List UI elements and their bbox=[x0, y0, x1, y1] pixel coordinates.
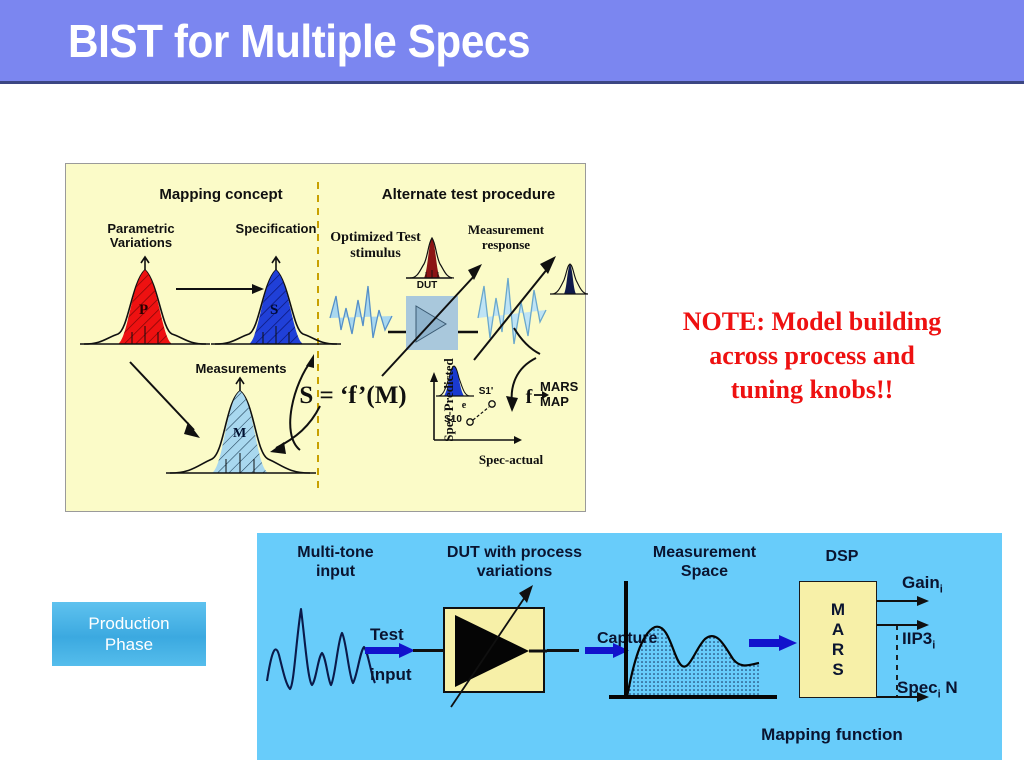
label-input: input bbox=[370, 665, 412, 685]
heading-mapping-function: Mapping function bbox=[727, 725, 937, 744]
slide-title-bar: BIST for Multiple Specs bbox=[0, 0, 1024, 84]
spec-distribution-small bbox=[548, 260, 590, 302]
svg-text:M: M bbox=[233, 426, 246, 441]
mars-letter-a: A bbox=[832, 620, 844, 640]
heading-measurement-space: MeasurementSpace bbox=[622, 543, 787, 581]
response-trend-arrow bbox=[470, 252, 560, 364]
output-label-iip3: IIP3i bbox=[902, 629, 935, 651]
mars-letter-r: R bbox=[832, 640, 844, 660]
distribution-s-chart: S bbox=[211, 252, 341, 358]
tuning-knob-arrow-bottom bbox=[437, 583, 547, 713]
heading-dsp: DSP bbox=[797, 547, 887, 566]
label-test: Test bbox=[370, 625, 404, 645]
axis-label-spec-actual: Spec-actual bbox=[461, 452, 561, 468]
label-point-s10: S10 bbox=[440, 414, 466, 425]
output-label-gain: Gaini bbox=[902, 573, 943, 595]
heading-multitone-input: Multi-toneinput bbox=[263, 543, 408, 581]
heading-mapping-concept: Mapping concept bbox=[121, 186, 321, 203]
arrow-s-eq-f-down bbox=[264, 404, 324, 464]
svg-text:S: S bbox=[270, 302, 278, 318]
output-label-spec-n: Speci N bbox=[897, 678, 958, 700]
mars-letter-s: S bbox=[832, 660, 843, 680]
note-line-2: across process and bbox=[612, 339, 1012, 373]
multitone-input-waveform bbox=[265, 585, 380, 697]
page-title: BIST for Multiple Specs bbox=[68, 14, 530, 68]
output-spec-name: Spec bbox=[897, 678, 938, 697]
arrow-p-to-s bbox=[176, 282, 266, 296]
dsp-mars-box[interactable]: M A R S bbox=[799, 581, 877, 698]
mapping-concept-figure: Mapping concept Alternate test procedure… bbox=[65, 163, 586, 512]
note-line-1: NOTE: Model building bbox=[612, 305, 1012, 339]
heading-alternate-test-procedure: Alternate test procedure bbox=[356, 186, 581, 203]
output-gain-subscript: i bbox=[940, 583, 943, 595]
output-iip3-name: IIP3 bbox=[902, 629, 932, 648]
label-point-s1-prime: S1' bbox=[474, 386, 498, 397]
production-phase-line-1: Production bbox=[88, 614, 169, 633]
heading-dut-with-process-variations: DUT with processvariations bbox=[407, 543, 622, 581]
label-error-e: e bbox=[458, 400, 470, 411]
note-line-3: tuning knobs!! bbox=[612, 373, 1012, 407]
label-parametric-variations: ParametricVariations bbox=[86, 222, 196, 250]
production-phase-chip[interactable]: Production Phase bbox=[52, 602, 206, 666]
output-gain-name: Gain bbox=[902, 573, 940, 592]
svg-text:P: P bbox=[139, 302, 148, 318]
label-mapping-equation: S = ‘f’(M) bbox=[288, 382, 418, 410]
measurement-to-dsp-arrow bbox=[749, 635, 801, 651]
production-flow-panel: Multi-toneinput DUT with processvariatio… bbox=[257, 533, 1002, 760]
output-iip3-subscript: i bbox=[932, 639, 935, 651]
output-spec-suffix: N bbox=[941, 678, 958, 697]
mars-letter-m: M bbox=[831, 600, 845, 620]
label-measurement-response: Measurementresponse bbox=[451, 222, 561, 252]
axis-label-spec-predicted: Spec-Predicted bbox=[441, 345, 457, 455]
production-phase-line-2: Phase bbox=[105, 635, 153, 654]
note-callout: NOTE: Model building across process and … bbox=[612, 305, 1012, 407]
distribution-p-chart: P bbox=[80, 252, 210, 358]
label-mars-map: MARSMAP bbox=[540, 379, 598, 409]
